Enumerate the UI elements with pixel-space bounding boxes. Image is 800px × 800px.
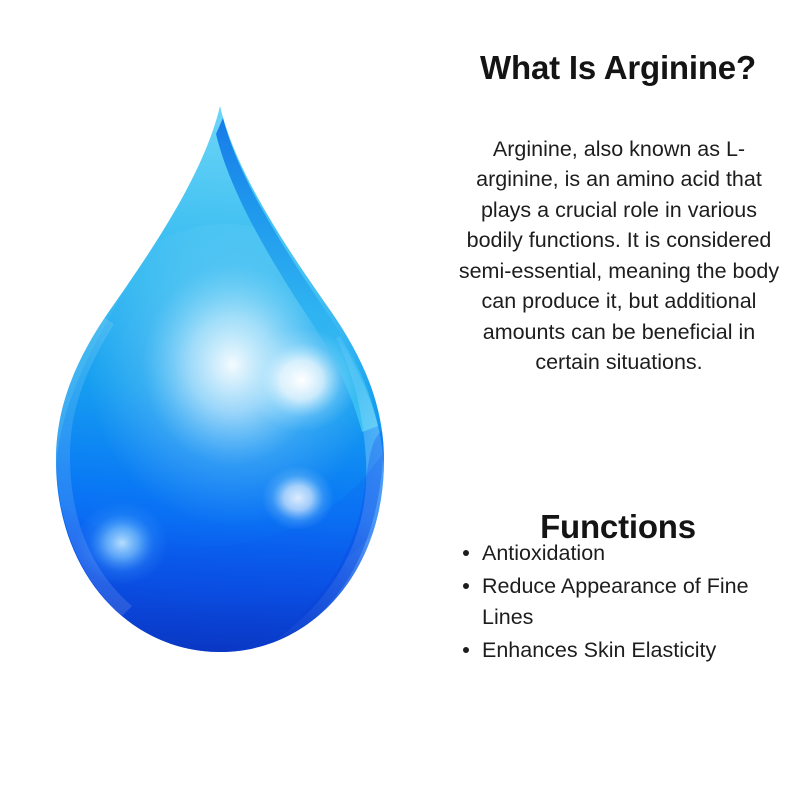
list-item: Antioxidation — [454, 538, 800, 569]
text-panel: What Is Arginine? Arginine, also known a… — [432, 0, 800, 800]
functions-list: Antioxidation Reduce Appearance of Fine … — [454, 538, 800, 668]
bullet-icon — [463, 583, 469, 589]
page-title: What Is Arginine? — [450, 48, 786, 88]
list-item: Reduce Appearance of Fine Lines — [454, 571, 800, 633]
droplet-specular-highlight — [246, 328, 358, 432]
list-item-label: Reduce Appearance of Fine Lines — [482, 574, 749, 629]
bullet-icon — [463, 647, 469, 653]
list-item-label: Enhances Skin Elasticity — [482, 638, 716, 662]
intro-paragraph: Arginine, also known as L-arginine, is a… — [458, 134, 780, 378]
infographic-page: What Is Arginine? Arginine, also known a… — [0, 0, 800, 800]
illustration-panel — [0, 0, 430, 800]
droplet-secondary-highlight — [262, 466, 334, 530]
list-item-label: Antioxidation — [482, 541, 605, 565]
bullet-icon — [463, 550, 469, 556]
list-item: Enhances Skin Elasticity — [454, 635, 800, 666]
water-droplet-icon — [40, 100, 400, 670]
